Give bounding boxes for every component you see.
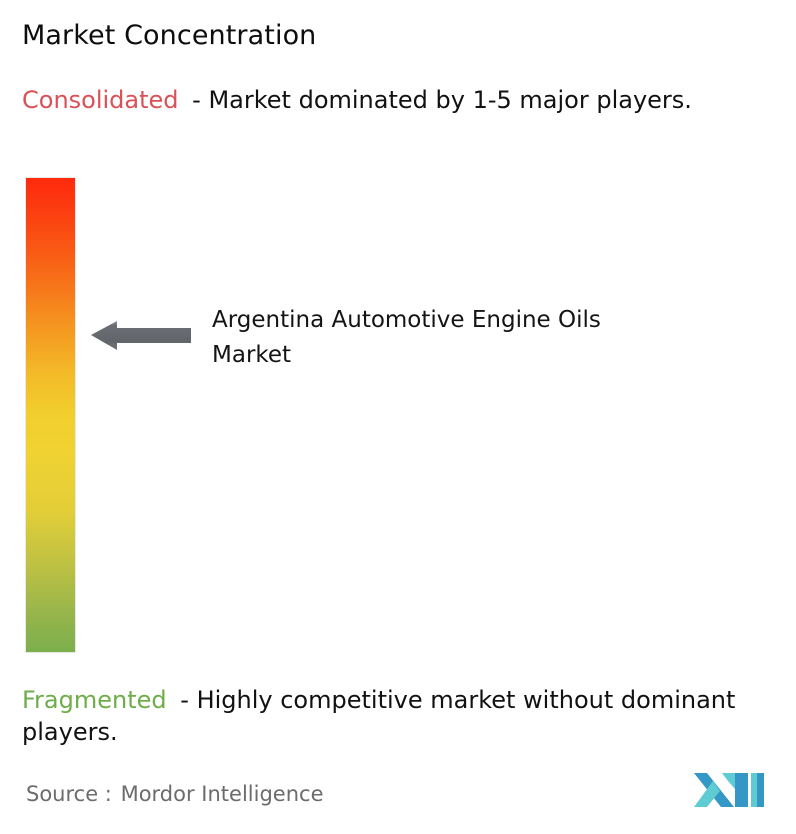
page-title: Market Concentration	[22, 20, 316, 51]
source-name: Mordor Intelligence	[121, 782, 324, 806]
mordor-intelligence-logo-icon	[694, 769, 764, 811]
source-attribution: Source : Mordor Intelligence	[24, 782, 323, 806]
legend-fragmented-keyword: Fragmented	[22, 686, 167, 714]
market-concentration-scale-bar	[26, 178, 75, 652]
legend-fragmented: Fragmented - Highly competitive market w…	[22, 685, 790, 748]
legend-consolidated-description: - Market dominated by 1-5 major players.	[192, 86, 692, 114]
legend-consolidated: Consolidated - Market dominated by 1-5 m…	[22, 85, 762, 117]
legend-consolidated-keyword: Consolidated	[22, 86, 179, 114]
market-position-arrow	[90, 318, 192, 352]
market-position-label: Argentina Automotive Engine Oils Market	[212, 303, 612, 373]
source-label: Source :	[24, 782, 114, 806]
